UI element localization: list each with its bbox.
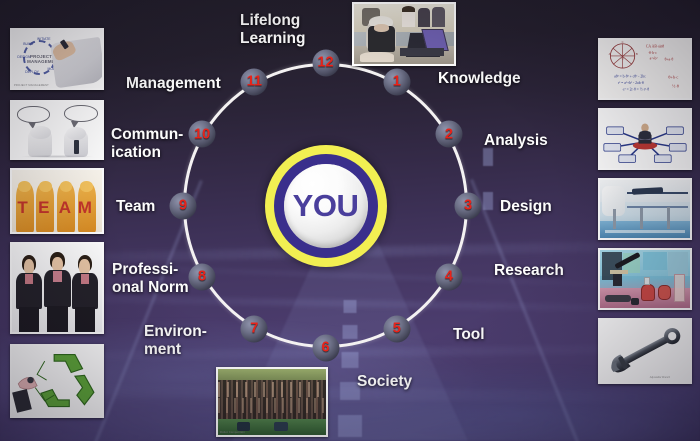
svg-text:Adjustable Wrench: Adjustable Wrench (650, 376, 671, 379)
research-photo (598, 248, 692, 310)
wheel-marker-1[interactable]: 1 (383, 69, 410, 96)
svg-text:θ+a·θ: θ+a·θ (665, 58, 674, 62)
you-badge[interactable]: YOU (265, 145, 387, 267)
label-team: Team (116, 198, 155, 216)
right-photo-strip: C A B O CA AB·sinθ ·θ·b·c a²+b² θ+a·θ aθ… (588, 0, 700, 441)
svg-text:aθ² = b·θ² + cθ² - 2bc: aθ² = b·θ² + cθ² - 2bc (614, 74, 646, 78)
professional-norm-photo (10, 242, 104, 334)
svg-text:C: C (622, 40, 624, 44)
you-badge-face: YOU (284, 164, 368, 248)
environment-photo (10, 344, 104, 418)
label-tool: Tool (453, 326, 485, 344)
label-knowledge: Knowledge (438, 70, 521, 88)
wheel-marker-5[interactable]: 5 (383, 315, 410, 342)
marker-number: 8 (198, 270, 206, 285)
project-management-photo: PROJECT MANAGEMENT INITIATE BUILD DESIGN… (10, 28, 104, 90)
wheel-marker-11[interactable]: 11 (241, 69, 268, 96)
road-dash (338, 415, 362, 437)
road-dash (342, 352, 359, 368)
label-management: Management (126, 75, 221, 93)
svg-text:O: O (622, 58, 624, 61)
you-badge-ring: YOU (274, 154, 378, 258)
wheel-marker-6[interactable]: 6 (312, 335, 339, 362)
team-photo: T E A M (10, 168, 104, 234)
lifelong-learning-photo (352, 2, 456, 66)
marker-number: 10 (194, 127, 210, 142)
marker-number: 6 (321, 341, 329, 356)
wheel-marker-8[interactable]: 8 (189, 263, 216, 290)
wheel-marker-10[interactable]: 10 (189, 121, 216, 148)
marker-number: 12 (317, 56, 333, 71)
svg-text:θ+b·c: θ+b·c (668, 74, 678, 79)
wheel-marker-9[interactable]: 9 (170, 192, 197, 219)
wheel-marker-2[interactable]: 2 (435, 121, 462, 148)
road-dash (483, 192, 493, 210)
road-dash (483, 148, 493, 166)
svg-text:a²+b²: a²+b² (650, 57, 659, 61)
marker-number: 5 (393, 322, 401, 337)
left-photo-strip: PROJECT MANAGEMENT INITIATE BUILD DESIGN… (0, 0, 112, 441)
society-photo: Robot Competition (216, 367, 328, 437)
svg-text:½·θ: ½·θ (672, 84, 679, 89)
svg-text:B: B (636, 52, 638, 56)
label-design: Design (500, 198, 552, 216)
design-photo (598, 178, 692, 240)
wheel-marker-3[interactable]: 3 (455, 192, 482, 219)
wheel-marker-7[interactable]: 7 (241, 315, 268, 342)
label-research: Research (494, 262, 564, 280)
label-society: Society (357, 373, 412, 391)
label-communication: Commun- ication (111, 126, 183, 162)
marker-number: 7 (250, 322, 258, 337)
marker-number: 9 (179, 198, 187, 213)
you-label: YOU (293, 190, 359, 221)
wheel-marker-4[interactable]: 4 (435, 263, 462, 290)
label-environment: Environ- ment (144, 323, 207, 359)
marker-number: 11 (247, 75, 262, 90)
label-lifelong-learning: Lifelong Learning (240, 12, 305, 48)
knowledge-photo: C A B O CA AB·sinθ ·θ·b·c a²+b² θ+a·θ aθ… (598, 38, 692, 100)
marker-number: 2 (445, 127, 453, 142)
label-analysis: Analysis (484, 132, 548, 150)
poster-canvas: YOU 12 1 2 3 4 5 6 7 8 9 10 11 Lifelong … (0, 0, 700, 441)
marker-number: 3 (464, 198, 472, 213)
svg-text:r² = a²+b² - 2ab·θ: r² = a²+b² - 2ab·θ (618, 81, 644, 85)
svg-text:·θ·b·c: ·θ·b·c (648, 51, 657, 55)
competency-wheel: YOU 12 1 2 3 4 5 6 7 8 9 10 11 (183, 63, 468, 348)
wheel-marker-12[interactable]: 12 (312, 50, 339, 77)
marker-number: 4 (445, 270, 453, 285)
analysis-photo (598, 108, 692, 170)
svg-text:CA AB·sinθ: CA AB·sinθ (646, 44, 664, 48)
svg-text:·c² = 2r·θ = ½·r²·θ: ·c² = 2r·θ = ½·r²·θ (622, 88, 650, 92)
marker-number: 1 (393, 75, 401, 90)
label-professional-norm: Professi- onal Norm (112, 261, 189, 297)
communication-photo (10, 100, 104, 160)
tool-photo: Adjustable Wrench (598, 318, 692, 384)
